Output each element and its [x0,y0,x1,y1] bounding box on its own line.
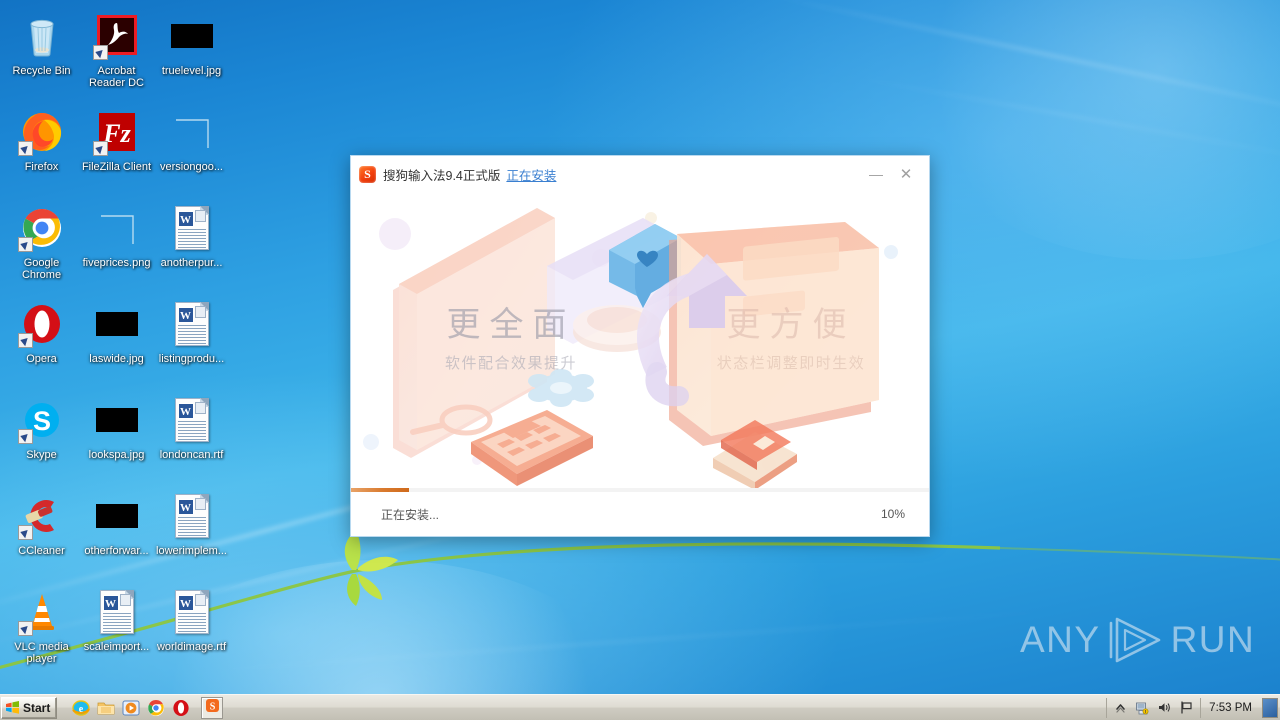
start-button[interactable]: Start [1,697,57,719]
play-triangle-icon [1105,614,1167,666]
desktop-icon-label: Opera [5,353,79,365]
installer-titlebar[interactable]: S 搜狗输入法9.4正式版 正在安装 — ✕ [351,156,929,192]
filezilla-icon: Fz [93,108,141,156]
opera-icon [18,300,66,348]
progress-bar-track [351,488,929,492]
taskbar[interactable]: Start e [0,694,1280,720]
chrome-icon[interactable] [146,698,166,718]
desktop-icon-label: lowerimplem... [155,545,229,557]
show-desktop-button[interactable] [1262,698,1278,718]
desktop-icon-label: Skype [5,449,79,461]
shortcut-overlay-icon [18,525,33,540]
desktop-icon-acrobat-reader-dc[interactable]: Acrobat Reader DC [79,6,154,102]
desktop-icon-listingprodu[interactable]: W listingprodu... [154,294,229,390]
tray-icons[interactable]: ! [1106,698,1201,718]
internet-explorer-icon[interactable]: e [71,698,91,718]
desktop-icon-label: truelevel.jpg [155,65,229,77]
file-explorer-icon[interactable] [96,698,116,718]
shortcut-overlay-icon [93,141,108,156]
installer-banner: 更全面 软件配合效果提升 更方便 状态栏调整即时生效 [351,192,929,488]
banner-headline-left-text: 更全面 [401,297,621,346]
desktop-icon-label: Recycle Bin [5,65,79,77]
desktop-icon-label: laswide.jpg [80,353,154,365]
desktop-icon-label: worldimage.rtf [155,641,229,653]
word-document-icon: W [168,396,216,444]
sogou-logo-icon: S [359,166,376,183]
install-percent-text: 10% [881,507,905,521]
svg-text:S: S [210,701,216,712]
word-document-icon: W [168,588,216,636]
desktop-icon-label: CCleaner [5,545,79,557]
word-document-icon: W [168,300,216,348]
desktop-icon-otherforwar[interactable]: otherforwar... [79,486,154,582]
desktop-icon-anotherpur[interactable]: W anotherpur... [154,198,229,294]
wallpaper-streak [767,0,1280,129]
windows-logo-icon [5,700,20,715]
chrome-icon [18,204,66,252]
banner-headline-right-text: 更方便 [681,297,901,346]
desktop-icon-grid[interactable]: Recycle Bin Acrobat Reader DC truelevel.… [4,6,229,678]
image-file-icon [168,12,216,60]
shortcut-overlay-icon [18,237,33,252]
desktop[interactable]: Recycle Bin Acrobat Reader DC truelevel.… [0,0,1280,720]
acrobat-reader-icon [93,12,141,60]
desktop-icon-skype[interactable]: S Skype [4,390,79,486]
desktop-icon-opera[interactable]: Opera [4,294,79,390]
shortcut-overlay-icon [93,45,108,60]
installer-footer: 正在安装... 10% [351,492,929,536]
desktop-icon-label: versiongoo... [155,161,229,173]
desktop-icon-firefox[interactable]: Firefox [4,102,79,198]
install-status-text: 正在安装... [381,506,439,523]
desktop-icon-vlc-media-player[interactable]: VLC media player [4,582,79,678]
image-file-icon [93,396,141,444]
progress-bar-fill [351,488,409,492]
image-file-icon [93,300,141,348]
desktop-icon-worldimage-rtf[interactable]: W worldimage.rtf [154,582,229,678]
system-tray[interactable]: ! 7:53 PM [1106,697,1280,719]
watermark-right-text: RUN [1171,619,1256,661]
show-hidden-icons-icon[interactable] [1113,700,1128,715]
banner-subtitle-right-text: 状态栏调整即时生效 [681,352,901,373]
sogou-installer-window[interactable]: S 搜狗输入法9.4正式版 正在安装 — ✕ [350,155,930,537]
desktop-icon-truelevel-jpg[interactable]: truelevel.jpg [154,6,229,102]
desktop-icon-recycle-bin[interactable]: Recycle Bin [4,6,79,102]
desktop-icon-label: Firefox [5,161,79,173]
desktop-icon-label: anotherpur... [155,257,229,269]
firefox-icon [18,108,66,156]
desktop-icon-label: otherforwar... [80,545,154,557]
taskbar-task-sogou[interactable]: S [201,697,223,719]
recycle-bin-icon [18,12,66,60]
desktop-icon-filezilla-client[interactable]: Fz FileZilla Client [79,102,154,198]
desktop-icon-label: fiveprices.png [80,257,154,269]
banner-subtitle-left-text: 软件配合效果提升 [401,352,621,373]
banner-headline-left: 更全面 软件配合效果提升 [401,297,621,373]
word-document-icon: W [168,204,216,252]
image-file-icon [168,108,216,156]
desktop-icon-label: lookspa.jpg [80,449,154,461]
desktop-icon-scaleimport[interactable]: W scaleimport... [79,582,154,678]
opera-icon[interactable] [171,698,191,718]
shortcut-overlay-icon [18,621,33,636]
start-button-label: Start [23,701,50,715]
vlc-icon [18,588,66,636]
desktop-icon-lowerimplem[interactable]: W lowerimplem... [154,486,229,582]
desktop-icon-ccleaner[interactable]: CCleaner [4,486,79,582]
desktop-icon-label: londoncan.rtf [155,449,229,461]
image-file-icon [93,204,141,252]
banner-headline-right: 更方便 状态栏调整即时生效 [681,297,901,373]
window-title: 搜狗输入法9.4正式版 [383,165,500,184]
watermark-left-text: ANY [1020,619,1101,661]
svg-text:e: e [79,704,84,715]
action-center-flag-icon[interactable] [1179,700,1194,715]
svg-text:S: S [32,406,50,436]
taskbar-clock[interactable]: 7:53 PM [1201,702,1260,714]
volume-icon[interactable] [1157,700,1172,715]
desktop-icon-label: VLC media player [5,641,79,665]
wallpaper-glow [900,0,1280,260]
anyrun-watermark: ANY RUN [1020,614,1255,666]
ccleaner-icon [18,492,66,540]
sogou-task-icon: S [205,698,220,718]
image-file-icon [93,492,141,540]
desktop-icon-label: scaleimport... [80,641,154,653]
media-player-icon[interactable] [121,698,141,718]
quick-launch-bar[interactable]: e [71,697,191,719]
desktop-icon-laswide-jpg[interactable]: laswide.jpg [79,294,154,390]
desktop-icon-label: Google Chrome [5,257,79,281]
desktop-icon-londoncan-rtf[interactable]: W londoncan.rtf [154,390,229,486]
desktop-icon-lookspa-jpg[interactable]: lookspa.jpg [79,390,154,486]
desktop-icon-label: listingprodu... [155,353,229,365]
shortcut-overlay-icon [18,429,33,444]
shortcut-overlay-icon [18,333,33,348]
word-document-icon: W [168,492,216,540]
word-document-icon: W [93,588,141,636]
desktop-icon-label: FileZilla Client [80,161,154,173]
wallpaper-streak [844,75,1280,167]
network-icon[interactable]: ! [1135,700,1150,715]
close-button[interactable]: ✕ [891,156,921,192]
desktop-icon-google-chrome[interactable]: Google Chrome [4,198,79,294]
desktop-icon-label: Acrobat Reader DC [80,65,154,89]
desktop-icon-versiongoo[interactable]: versiongoo... [154,102,229,198]
wallpaper-streak [181,609,1079,674]
skype-icon: S [18,396,66,444]
desktop-icon-fiveprices-png[interactable]: fiveprices.png [79,198,154,294]
minimize-button[interactable]: — [861,156,891,192]
window-controls[interactable]: — ✕ [861,156,929,192]
shortcut-overlay-icon [18,141,33,156]
title-status-link[interactable]: 正在安装 [506,165,556,184]
